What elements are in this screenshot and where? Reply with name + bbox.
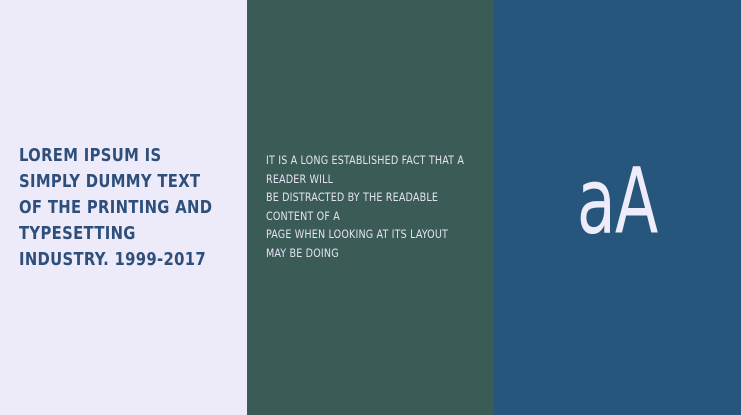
glyph-sample-aA: aA [577,156,658,247]
heading-sample-panel: Lorem Ipsum is simply dummy text of the … [0,0,247,415]
glyph-sample-panel: aA [494,0,741,415]
paragraph-sample-panel: It is a long established fact that a rea… [247,0,494,415]
font-specimen-page: Lorem Ipsum is simply dummy text of the … [0,0,741,415]
heading-sample-text: Lorem Ipsum is simply dummy text of the … [19,143,216,273]
paragraph-sample-text: It is a long established fact that a rea… [266,152,467,263]
